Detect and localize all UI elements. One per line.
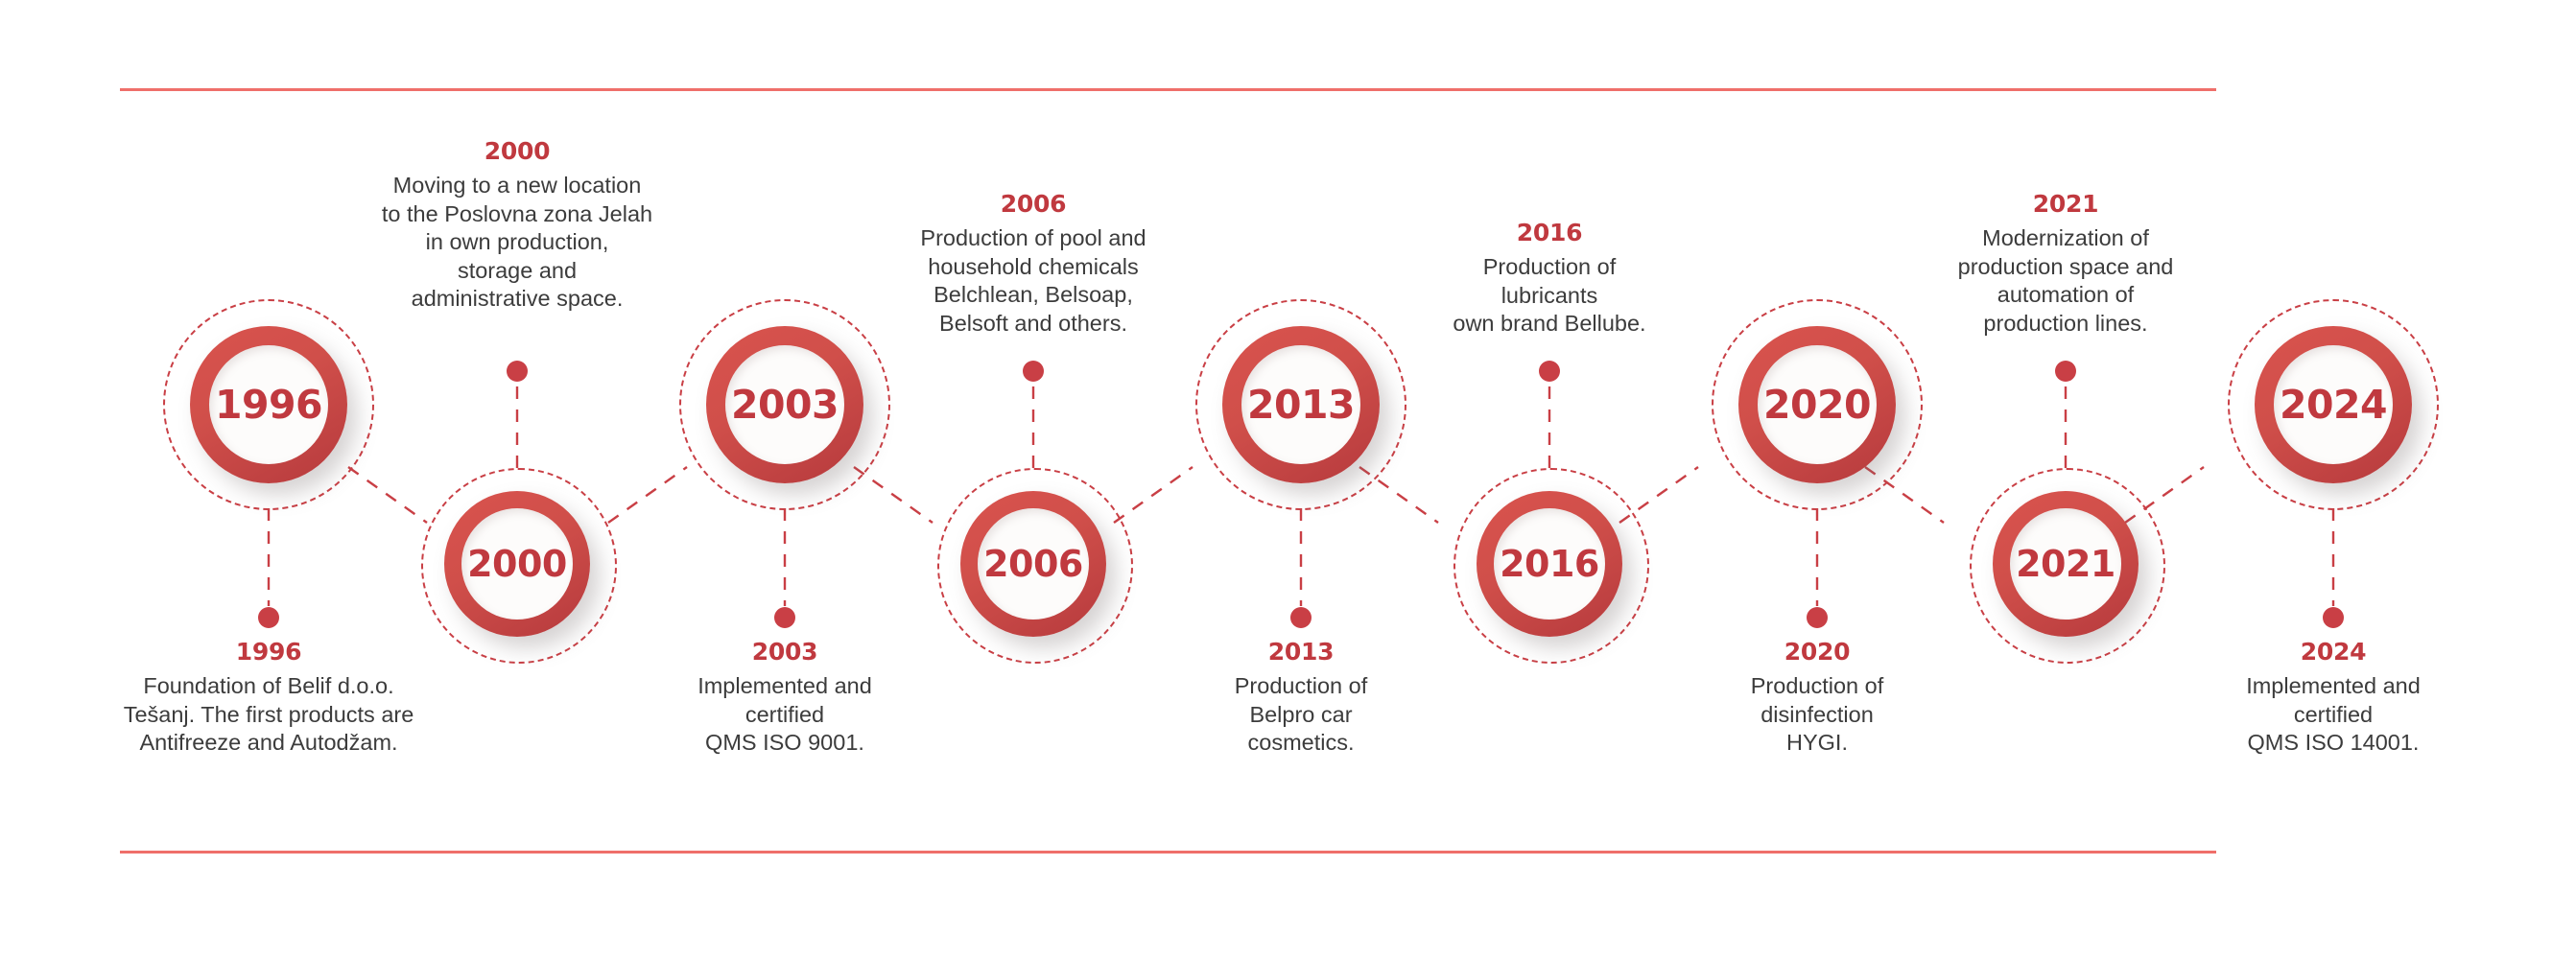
caption-line: own brand Bellube.: [1386, 310, 1713, 339]
caption-line: lubricants: [1386, 282, 1713, 311]
caption-line: to the Poslovna zona Jelah: [354, 200, 680, 229]
caption-dot: [1539, 361, 1560, 382]
timeline-node-1996[interactable]: 1996: [190, 326, 347, 483]
milestone-caption-2006: 2006 Production of pool and household ch…: [870, 190, 1196, 338]
caption-line: Belsoft and others.: [870, 310, 1196, 339]
caption-dot: [507, 361, 528, 382]
caption-line: Foundation of Belif d.o.o.: [77, 672, 461, 701]
caption-year: 2016: [1386, 219, 1713, 246]
caption-line: Modernization of: [1902, 224, 2229, 253]
caption-line: Production of: [1138, 672, 1464, 701]
timeline-node-2021[interactable]: 2021: [1993, 491, 2139, 637]
caption-dot: [2055, 361, 2076, 382]
caption-year: 2000: [354, 137, 680, 165]
timeline-node-2006[interactable]: 2006: [960, 491, 1106, 637]
caption-line: administrative space.: [354, 285, 680, 314]
milestone-caption-2013: 2013 Production of Belpro car cosmetics.: [1138, 638, 1464, 758]
node-year-label: 2013: [1247, 382, 1355, 428]
node-year-label: 2021: [2016, 543, 2115, 585]
caption-line: Implemented and: [622, 672, 948, 701]
caption-year: 2020: [1654, 638, 1980, 666]
milestone-caption-2021: 2021 Modernization of production space a…: [1902, 190, 2229, 338]
caption-year: 2021: [1902, 190, 2229, 218]
caption-year: 2006: [870, 190, 1196, 218]
caption-line: Tešanj. The first products are: [77, 701, 461, 730]
timeline-node-2013[interactable]: 2013: [1222, 326, 1380, 483]
node-year-label: 2003: [731, 382, 839, 428]
timeline-infographic: 1996 2000 2003 2006 2013 2016 2020 2021 …: [0, 0, 2576, 959]
caption-line: Production of: [1654, 672, 1980, 701]
caption-line: Antifreeze and Autodžam.: [77, 729, 461, 758]
caption-line: Production of pool and: [870, 224, 1196, 253]
caption-line: QMS ISO 9001.: [622, 729, 948, 758]
caption-line: household chemicals: [870, 253, 1196, 282]
node-year-label: 2000: [467, 543, 567, 585]
caption-dot: [1023, 361, 1044, 382]
caption-line: Implemented and: [2161, 672, 2506, 701]
caption-line: in own production,: [354, 228, 680, 257]
caption-year: 2013: [1138, 638, 1464, 666]
top-divider-rule: [120, 88, 2216, 91]
caption-year: 1996: [77, 638, 461, 666]
caption-dot: [1807, 607, 1828, 628]
node-year-label: 2020: [1763, 382, 1871, 428]
node-year-label: 2006: [983, 543, 1083, 585]
caption-line: certified: [622, 701, 948, 730]
caption-line: production lines.: [1902, 310, 2229, 339]
milestone-caption-2020: 2020 Production of disinfection HYGI.: [1654, 638, 1980, 758]
caption-dot: [1290, 607, 1312, 628]
milestone-caption-2000: 2000 Moving to a new location to the Pos…: [354, 137, 680, 314]
milestone-caption-2003: 2003 Implemented and certified QMS ISO 9…: [622, 638, 948, 758]
node-year-label: 1996: [215, 382, 322, 428]
caption-year: 2003: [622, 638, 948, 666]
milestone-caption-1996: 1996 Foundation of Belif d.o.o. Tešanj. …: [77, 638, 461, 758]
milestone-caption-2024: 2024 Implemented and certified QMS ISO 1…: [2161, 638, 2506, 758]
caption-line: cosmetics.: [1138, 729, 1464, 758]
caption-dot: [774, 607, 795, 628]
caption-dot: [2323, 607, 2344, 628]
node-year-label: 2016: [1500, 543, 1599, 585]
milestone-caption-2016: 2016 Production of lubricants own brand …: [1386, 219, 1713, 339]
caption-line: Moving to a new location: [354, 172, 680, 200]
bottom-divider-rule: [120, 851, 2216, 854]
caption-line: storage and: [354, 257, 680, 286]
timeline-node-2024[interactable]: 2024: [2255, 326, 2412, 483]
caption-dot: [258, 607, 279, 628]
caption-line: Production of: [1386, 253, 1713, 282]
timeline-node-2000[interactable]: 2000: [444, 491, 590, 637]
caption-year: 2024: [2161, 638, 2506, 666]
caption-line: Belchlean, Belsoap,: [870, 281, 1196, 310]
caption-line: automation of: [1902, 281, 2229, 310]
timeline-node-2016[interactable]: 2016: [1477, 491, 1622, 637]
timeline-node-2003[interactable]: 2003: [706, 326, 863, 483]
caption-line: disinfection: [1654, 701, 1980, 730]
caption-line: Belpro car: [1138, 701, 1464, 730]
caption-line: HYGI.: [1654, 729, 1980, 758]
timeline-node-2020[interactable]: 2020: [1738, 326, 1896, 483]
caption-line: certified: [2161, 701, 2506, 730]
caption-line: production space and: [1902, 253, 2229, 282]
caption-line: QMS ISO 14001.: [2161, 729, 2506, 758]
node-year-label: 2024: [2280, 382, 2387, 428]
